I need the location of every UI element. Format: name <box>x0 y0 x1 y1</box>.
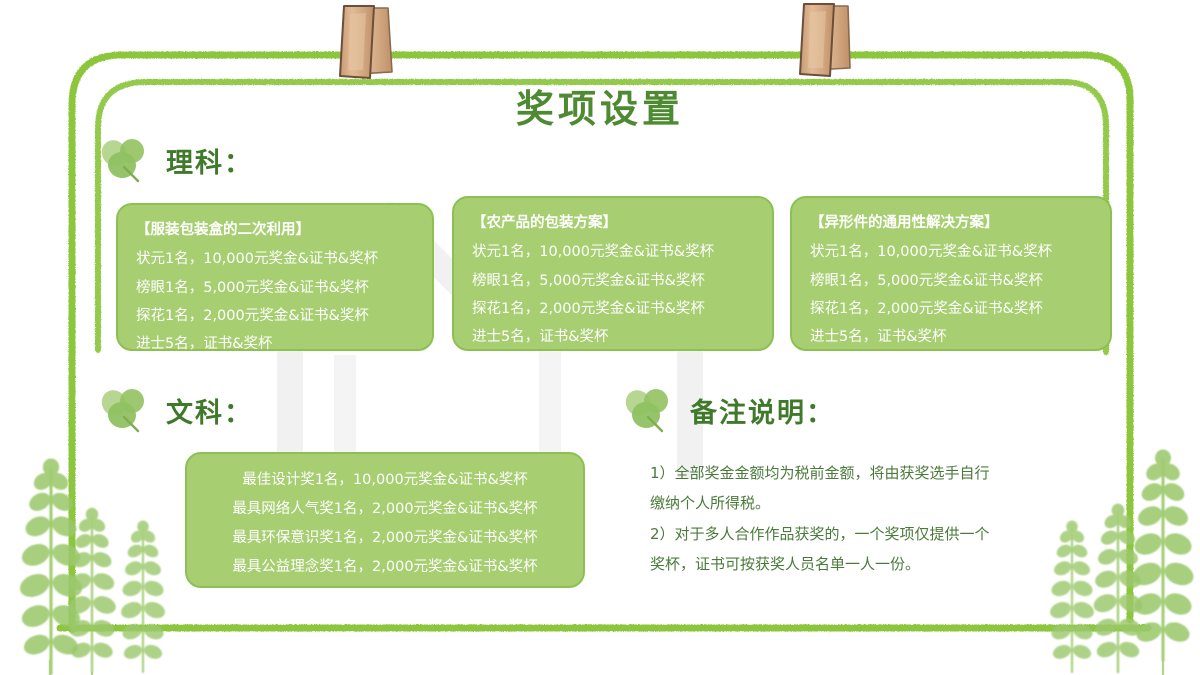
card-line: 最具网络人气奖1名，2,000元奖金&证书&奖杯 <box>203 495 567 524</box>
note-line: 缴纳个人所得税。 <box>650 488 1070 518</box>
award-card-arts: 最佳设计奖1名，10,000元奖金&证书&奖杯 最具网络人气奖1名，2,000元… <box>185 452 585 588</box>
card-line: 榜眼1名，5,000元奖金&证书&奖杯 <box>810 267 1092 295</box>
section-label-arts: 文科： <box>166 391 253 430</box>
slide-canvas: 奖项设置 理科： 【服装包装盒的二次利用】 状元1名，10,000元奖金&证书&… <box>0 0 1200 675</box>
leaf-icon <box>98 137 152 183</box>
page-title: 奖项设置 <box>0 78 1200 133</box>
card-title: 【异形件的通用性解决方案】 <box>810 212 1092 234</box>
card-line: 进士5名，证书&奖杯 <box>472 323 754 351</box>
award-card-science-3: 【异形件的通用性解决方案】 状元1名，10,000元奖金&证书&奖杯 榜眼1名，… <box>790 196 1112 351</box>
card-line: 最具公益理念奖1名，2,000元奖金&证书&奖杯 <box>203 553 567 582</box>
card-line: 最佳设计奖1名，10,000元奖金&证书&奖杯 <box>203 466 567 495</box>
award-card-science-1: 【服装包装盒的二次利用】 状元1名，10,000元奖金&证书&奖杯 榜眼1名，5… <box>116 203 434 351</box>
card-line: 进士5名，证书&奖杯 <box>810 323 1092 351</box>
card-line: 榜眼1名，5,000元奖金&证书&奖杯 <box>472 267 754 295</box>
section-heading-science: 理科： <box>98 137 253 183</box>
card-line: 探花1名，2,000元奖金&证书&奖杯 <box>472 295 754 323</box>
note-line: 2）对于多人合作作品获奖的，一个奖项仅提供一个 <box>650 519 1070 549</box>
section-heading-notes: 备注说明： <box>622 387 835 433</box>
card-line: 最具环保意识奖1名，2,000元奖金&证书&奖杯 <box>203 524 567 553</box>
card-line: 状元1名，10,000元奖金&证书&奖杯 <box>810 238 1092 266</box>
card-line: 探花1名，2,000元奖金&证书&奖杯 <box>136 302 414 330</box>
section-label-notes: 备注说明： <box>690 391 835 430</box>
card-title: 【服装包装盒的二次利用】 <box>136 219 414 241</box>
note-line: 奖杯，证书可按获奖人员名单一人一份。 <box>650 549 1070 579</box>
section-label-science: 理科： <box>166 141 253 180</box>
card-line: 状元1名，10,000元奖金&证书&奖杯 <box>136 245 414 273</box>
card-line: 探花1名，2,000元奖金&证书&奖杯 <box>810 295 1092 323</box>
card-title: 【农产品的包装方案】 <box>472 212 754 234</box>
card-line: 榜眼1名，5,000元奖金&证书&奖杯 <box>136 274 414 302</box>
note-line: 1）全部奖金金额均为税前金额，将由获奖选手自行 <box>650 458 1070 488</box>
section-heading-arts: 文科： <box>98 387 253 433</box>
leaf-icon <box>98 387 152 433</box>
award-card-science-2: 【农产品的包装方案】 状元1名，10,000元奖金&证书&奖杯 榜眼1名，5,0… <box>452 196 774 351</box>
slide-content: 奖项设置 理科： 【服装包装盒的二次利用】 状元1名，10,000元奖金&证书&… <box>0 0 1200 675</box>
leaf-icon <box>622 387 676 433</box>
notes-body: 1）全部奖金金额均为税前金额，将由获奖选手自行 缴纳个人所得税。 2）对于多人合… <box>650 458 1070 580</box>
card-line: 状元1名，10,000元奖金&证书&奖杯 <box>472 238 754 266</box>
card-line: 进士5名，证书&奖杯 <box>136 330 414 358</box>
